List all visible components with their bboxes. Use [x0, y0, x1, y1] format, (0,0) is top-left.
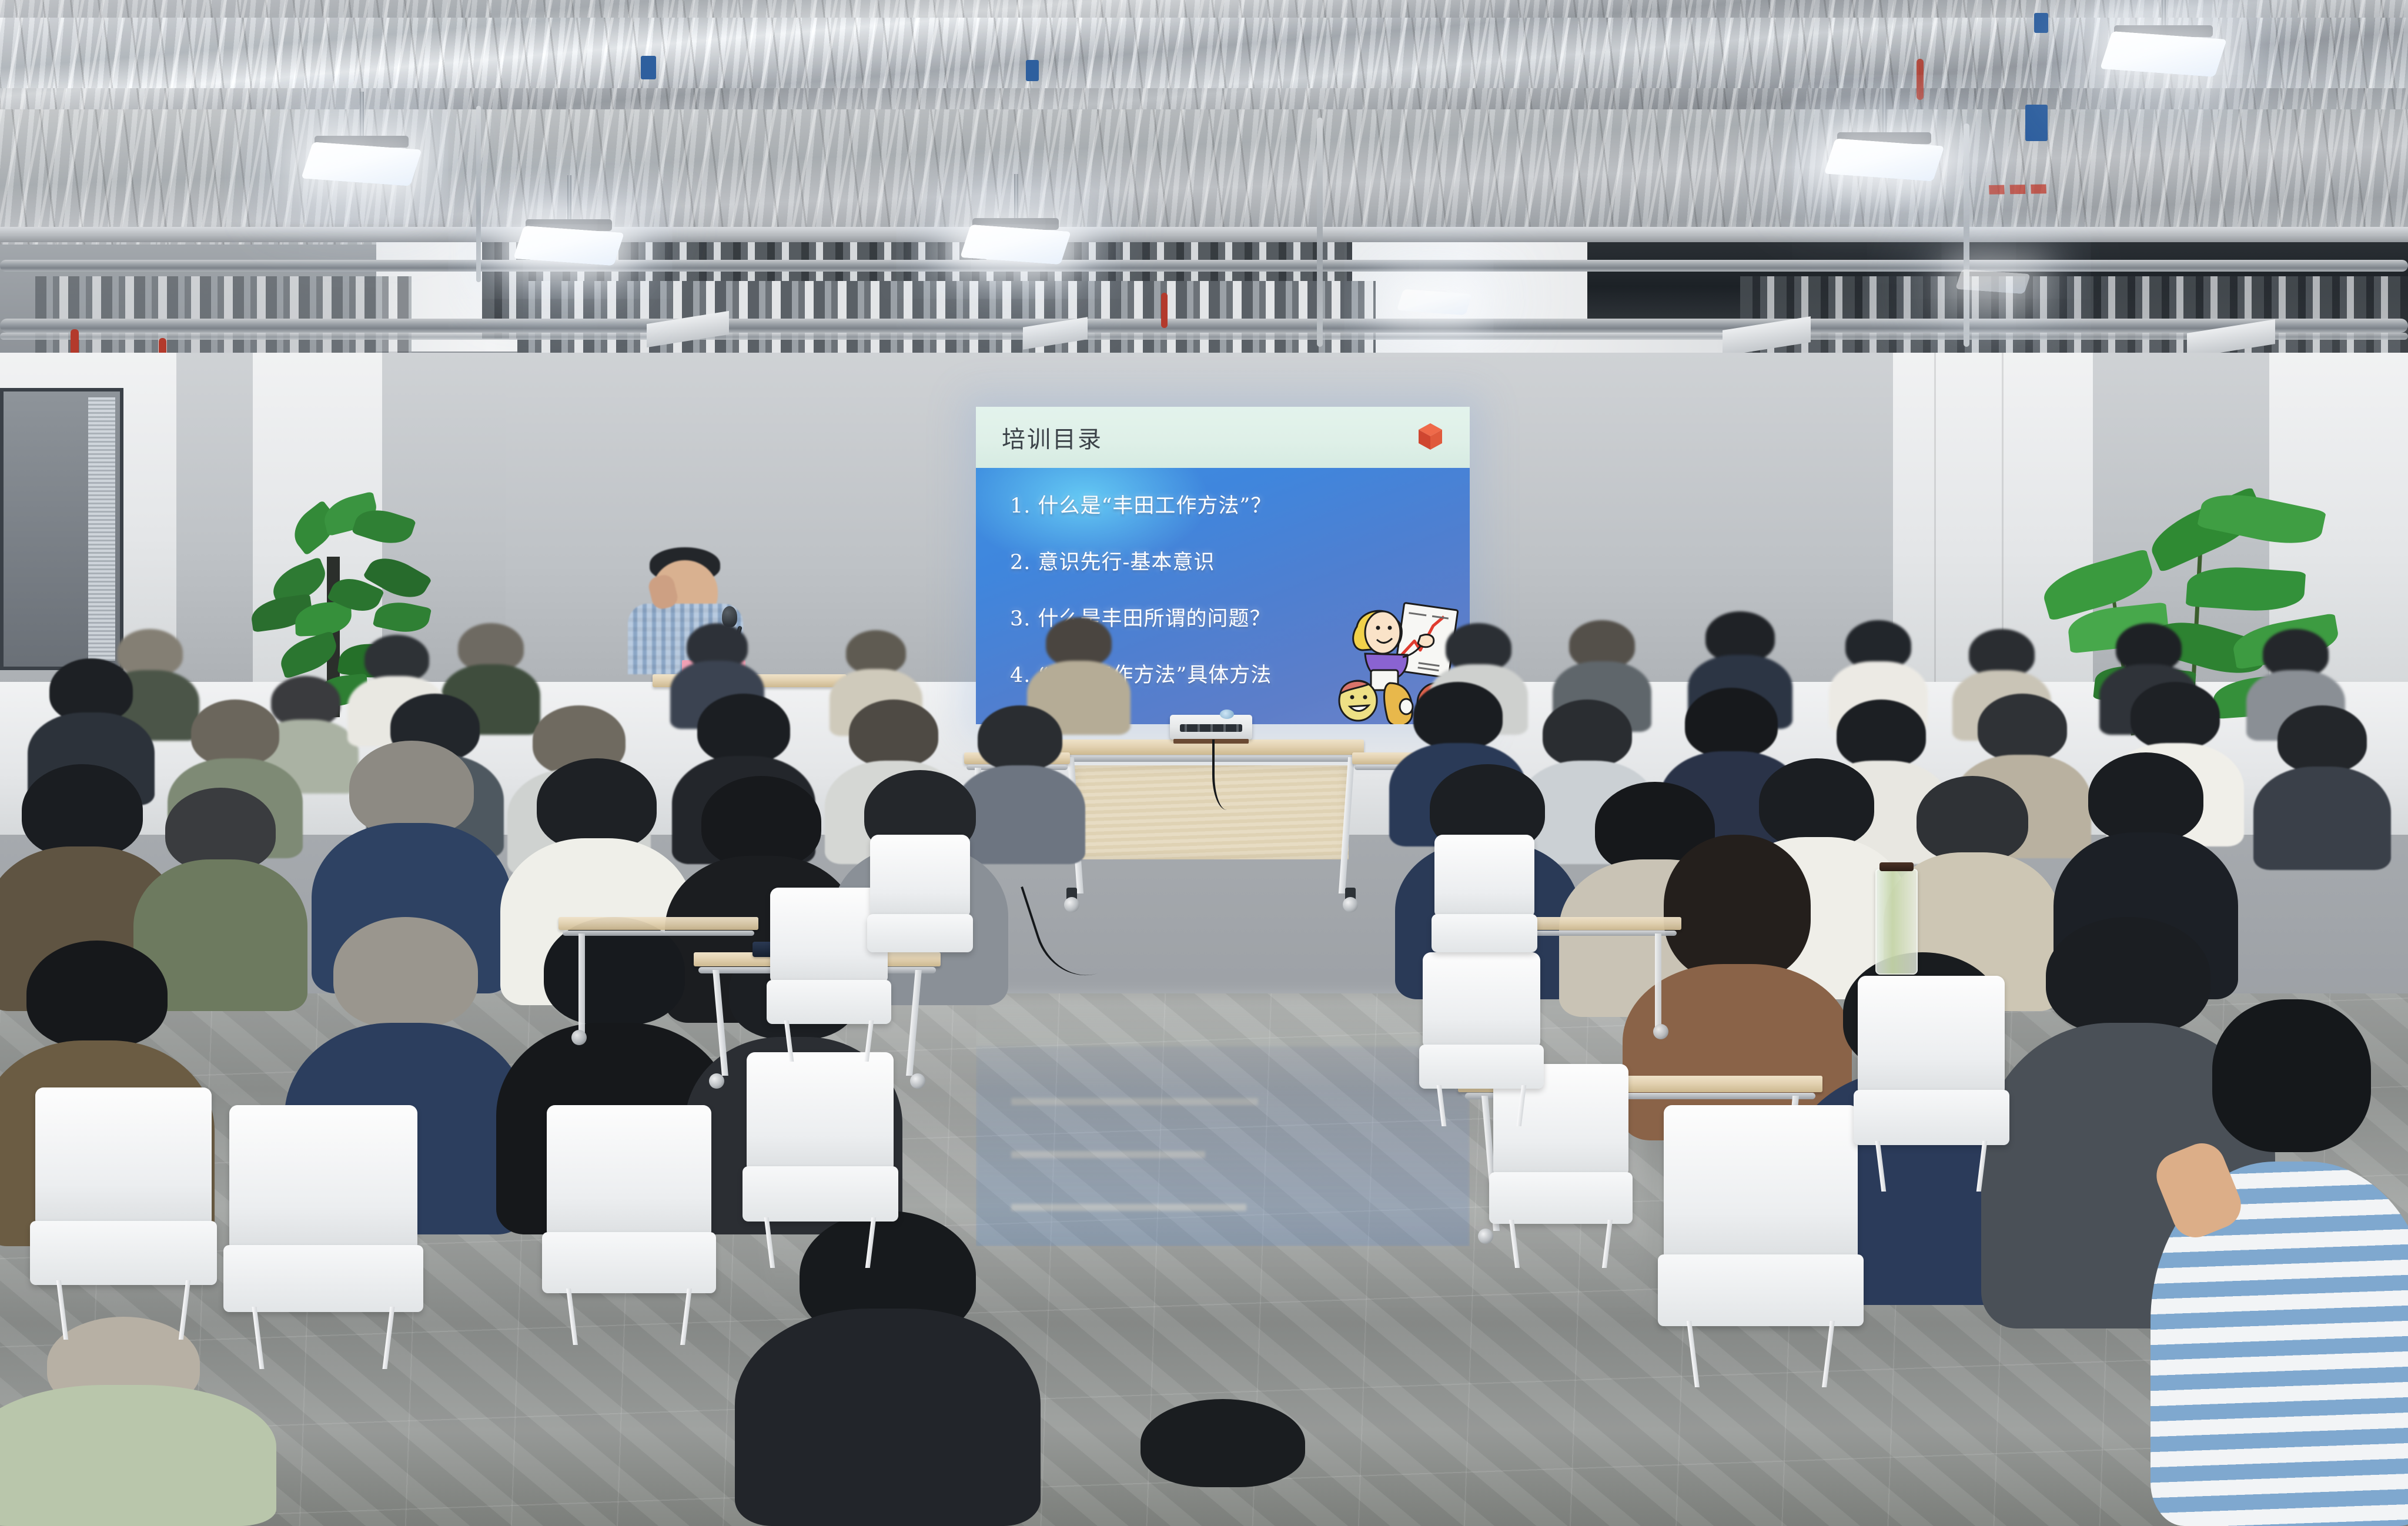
- attendee: [0, 1317, 247, 1526]
- desk-caster: [1343, 897, 1358, 912]
- chair-back: [870, 835, 970, 917]
- chair-leg: [56, 1280, 68, 1340]
- vertical-conduit-2: [1964, 123, 1969, 347]
- training-room-photo: ■■■: [0, 0, 2408, 1526]
- desk-leg: [906, 970, 922, 1076]
- chair-leg: [784, 1020, 794, 1062]
- chair-leg: [252, 1307, 264, 1369]
- attendee-hair: [349, 741, 474, 836]
- ceiling-beam-upper: [0, 227, 2408, 242]
- attendee-hair: [849, 700, 938, 767]
- attendee-hair: [1837, 700, 1926, 768]
- orange-cube-logo: [1417, 422, 1444, 451]
- chair-back: [1434, 835, 1534, 917]
- projector-cable: [1212, 739, 1242, 810]
- chair-back: [229, 1105, 417, 1250]
- duct-blue-tag-1: [641, 56, 656, 79]
- attendee-hair: [364, 635, 429, 682]
- attendee-hair: [191, 700, 279, 765]
- bottle-cap: [1879, 862, 1913, 871]
- attendee: [2263, 705, 2381, 870]
- chair-leg: [1687, 1321, 1700, 1387]
- attendee-hair: [1664, 835, 1811, 982]
- glass-door-left[interactable]: [0, 388, 123, 670]
- wall-seam-right-1: [1934, 353, 1936, 682]
- chair-seat: [1432, 914, 1537, 952]
- desk-rail: [563, 931, 754, 936]
- chair-seat: [1658, 1254, 1864, 1326]
- attendee-hair: [1141, 1399, 1305, 1487]
- attendee-hair: [697, 694, 790, 763]
- hanging-led-panel-6: [1399, 292, 1470, 313]
- white-stacking-chair[interactable]: [35, 1087, 212, 1334]
- attendee-hair: [1917, 776, 2028, 862]
- white-stacking-chair[interactable]: [229, 1105, 417, 1364]
- attendee-hair: [22, 764, 143, 857]
- chair-leg: [764, 1217, 775, 1268]
- training-desk: [558, 917, 758, 1046]
- hanging-led-panel-2: [517, 229, 620, 262]
- lamp-panel: [513, 226, 624, 266]
- white-stacking-chair[interactable]: [870, 835, 970, 982]
- attendee-body: [0, 1385, 276, 1526]
- chair-back: [1664, 1105, 1858, 1260]
- attendee-hair: [2277, 705, 2367, 772]
- white-stacking-chair[interactable]: [747, 1052, 894, 1264]
- hanging-led-panel-5: [2105, 35, 2222, 73]
- vertical-conduit-1: [1317, 118, 1323, 347]
- sprinkler-pipe-right: [1917, 59, 1924, 100]
- chair-seat: [767, 980, 891, 1024]
- attendee-hair: [165, 788, 276, 871]
- attendee-hair: [846, 630, 906, 674]
- duct-blue-tag-3: [2034, 13, 2048, 33]
- chair-seat: [542, 1232, 717, 1293]
- attendee-hair: [333, 917, 478, 1028]
- sprinkler-pipe-center: [1161, 293, 1168, 328]
- lamp-panel: [1397, 289, 1473, 315]
- plant-frond: [2186, 564, 2306, 614]
- desk-top: [558, 917, 758, 930]
- chair-seat: [223, 1245, 423, 1312]
- white-stacking-chair[interactable]: [1664, 1105, 1858, 1381]
- lamp-panel: [2100, 31, 2227, 77]
- desk-modesty-panel: [1073, 765, 1349, 859]
- chair-leg: [864, 1020, 874, 1062]
- attendee-hair: [1978, 694, 2067, 761]
- white-stacking-chair[interactable]: [547, 1105, 711, 1340]
- chair-leg: [179, 1280, 190, 1340]
- exposed-ceiling: ■■■: [0, 0, 2408, 376]
- slide-header-band: 培训目录: [976, 407, 1470, 468]
- desk-leg: [1655, 933, 1661, 1028]
- chair-leg: [1875, 1141, 1887, 1192]
- desk-caster: [910, 1073, 925, 1089]
- attendee-hair: [26, 941, 168, 1048]
- chair-seat: [743, 1166, 898, 1222]
- plant-leaf: [373, 597, 432, 637]
- slide-bullet-1: 1. 什么是“丰田工作方法”？: [1010, 489, 1272, 519]
- door-glazing: [88, 397, 115, 661]
- lamp-panel: [1955, 269, 2031, 294]
- attendee-hair: [2088, 752, 2203, 842]
- chair-seat: [867, 914, 973, 952]
- white-stacking-chair[interactable]: [1434, 835, 1534, 982]
- chair-leg: [1976, 1141, 1988, 1192]
- lamp-panel: [301, 142, 422, 186]
- desk-leg: [578, 933, 585, 1033]
- ceiling-conduit: [0, 333, 2408, 340]
- desk-caster: [1478, 1229, 1493, 1244]
- attendee-hair: [1046, 617, 1112, 667]
- hanging-led-panel-1: [306, 146, 417, 182]
- chair-leg: [566, 1289, 578, 1345]
- chair-back: [35, 1087, 212, 1226]
- attendee-hair: [2212, 999, 2371, 1152]
- vertical-conduit-3: [476, 106, 481, 282]
- slide-title: 培训目录: [1002, 420, 1103, 454]
- chair-leg: [1822, 1321, 1835, 1387]
- ceiling-pipe-upper: [0, 260, 2408, 272]
- attendee-hair: [1543, 700, 1632, 767]
- attendee-hair: [978, 705, 1062, 770]
- slide-bullet-2: 2. 意识先行-基本意识: [1010, 546, 1215, 575]
- ceiling-pipe-lower: [0, 319, 2408, 333]
- glass-tea-bottle: [1875, 869, 1918, 975]
- attendee-body: [735, 1309, 1041, 1526]
- chair-seat: [1489, 1172, 1633, 1224]
- duct-red-marking: ■■■: [1986, 178, 2050, 200]
- desk-caster: [571, 1030, 587, 1045]
- chair-leg: [1517, 1085, 1527, 1126]
- lamp-panel: [1824, 138, 1944, 181]
- desk-caster: [1653, 1024, 1668, 1039]
- chair-leg: [1437, 1085, 1447, 1126]
- attendee: [1105, 1399, 1340, 1526]
- attendee-hair: [537, 758, 657, 850]
- chair-leg: [1602, 1220, 1613, 1268]
- chair-back: [747, 1052, 894, 1171]
- desk-caster: [709, 1073, 724, 1089]
- duct-blue-tag-2: [1026, 60, 1039, 81]
- chair-leg: [383, 1307, 395, 1369]
- chair-leg: [1509, 1220, 1520, 1268]
- white-stacking-chair[interactable]: [1858, 976, 2005, 1187]
- chair-leg: [680, 1289, 692, 1345]
- hanging-led-panel-4: [1828, 142, 1940, 178]
- attendee-hair: [1685, 688, 1778, 757]
- attendee-hair: [701, 776, 821, 868]
- desk-rail: [1064, 755, 1357, 762]
- projector: [1170, 715, 1252, 739]
- attendee-hair: [2131, 682, 2220, 749]
- chair-back: [547, 1105, 711, 1237]
- hanging-led-panel-7: [1958, 272, 2028, 292]
- chair-seat: [1419, 1045, 1544, 1089]
- attendee-hair: [1413, 682, 1503, 749]
- chair-seat: [1854, 1090, 2009, 1145]
- attendee-striped-shirt: [2175, 999, 2408, 1526]
- lamp-panel: [960, 225, 1071, 265]
- duct-sensor-box: [2025, 105, 2048, 141]
- attendee-body: [2253, 767, 2391, 870]
- hanging-led-panel-3: [964, 228, 1067, 261]
- projector-ports: [1180, 724, 1242, 732]
- chair-back: [1858, 976, 2005, 1095]
- chair-leg: [865, 1217, 877, 1268]
- chair-seat: [30, 1221, 217, 1285]
